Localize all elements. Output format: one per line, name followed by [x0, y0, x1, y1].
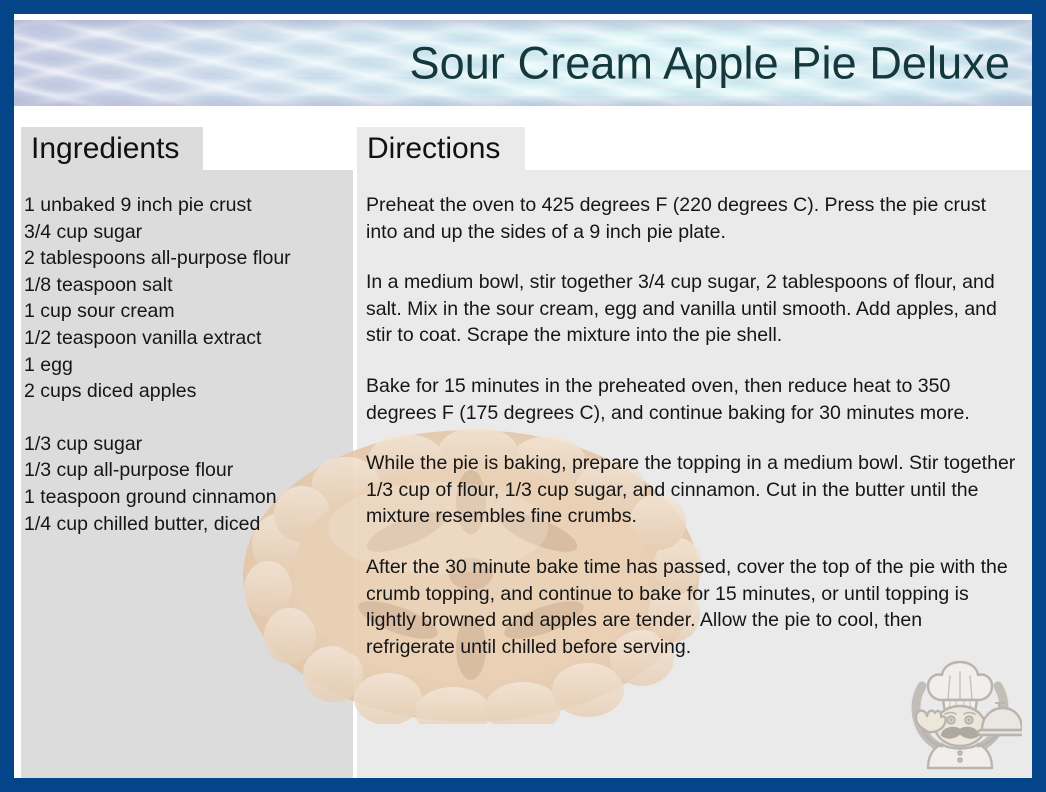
directions-paragraph: While the pie is baking, prepare the top…: [366, 450, 1016, 530]
list-item: 1/2 teaspoon vanilla extract: [24, 325, 350, 352]
ingredients-list: 1 unbaked 9 inch pie crust 3/4 cup sugar…: [24, 192, 350, 537]
banner-bottom-shadow: [14, 95, 1032, 106]
list-item: 1 egg: [24, 352, 350, 379]
directions-paragraph: After the 30 minute bake time has passed…: [366, 554, 1016, 660]
title-banner: Sour Cream Apple Pie Deluxe: [14, 20, 1032, 106]
list-item: 2 tablespoons all-purpose flour: [24, 245, 350, 272]
list-item: 2 cups diced apples: [24, 378, 350, 405]
directions-paragraph: In a medium bowl, stir together 3/4 cup …: [366, 269, 1016, 349]
directions-header-tab: Directions: [357, 127, 525, 170]
directions-paragraph: Preheat the oven to 425 degrees F (220 d…: [366, 192, 1016, 245]
ingredients-heading: Ingredients: [21, 134, 179, 164]
banner-top-shadow: [14, 20, 1032, 32]
list-item: 1/3 cup sugar: [24, 431, 350, 458]
directions-heading: Directions: [357, 134, 500, 164]
list-item: 3/4 cup sugar: [24, 219, 350, 246]
list-item: 1 teaspoon ground cinnamon: [24, 484, 350, 511]
list-item: 1/8 teaspoon salt: [24, 272, 350, 299]
ingredients-group-topping: 1/3 cup sugar 1/3 cup all-purpose flour …: [24, 431, 350, 537]
directions-text: Preheat the oven to 425 degrees F (220 d…: [366, 192, 1016, 660]
list-item: 1 cup sour cream: [24, 298, 350, 325]
recipe-title: Sour Cream Apple Pie Deluxe: [409, 41, 1010, 86]
ingredients-group-filling: 1 unbaked 9 inch pie crust 3/4 cup sugar…: [24, 192, 350, 405]
directions-paragraph: Bake for 15 minutes in the preheated ove…: [366, 373, 1016, 426]
list-item: 1 unbaked 9 inch pie crust: [24, 192, 350, 219]
list-item: 1/3 cup all-purpose flour: [24, 457, 350, 484]
list-item: 1/4 cup chilled butter, diced: [24, 511, 350, 538]
ingredients-header-tab: Ingredients: [21, 127, 203, 170]
recipe-card: Sour Cream Apple Pie Deluxe: [0, 0, 1046, 792]
